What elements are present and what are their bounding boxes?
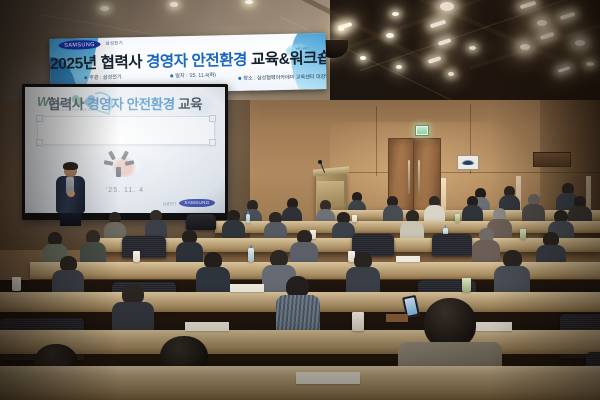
banner-title-part2: 교육&워크숍 xyxy=(247,50,327,69)
banner-meta-date: 일자 : '25. 11.4(화) xyxy=(170,71,216,79)
lectern-microphone xyxy=(318,160,328,172)
banner-meta-date-label: 일자 xyxy=(175,73,185,79)
door-handle-left[interactable] xyxy=(408,160,410,194)
banner-meta-organizer-value: 삼성전기 xyxy=(103,74,122,80)
projection-screen-frame: W in win SAMSUNG PARTNERS 협력사 경영자 안전환경 교… xyxy=(22,84,228,220)
handout-paper xyxy=(296,372,360,384)
paper-cup xyxy=(520,229,526,239)
banner-brand-sub: 삼성전기 xyxy=(105,40,123,46)
door-handle-right[interactable] xyxy=(418,160,420,194)
banner-meta-date-value: '25. 11.4(화) xyxy=(189,72,216,79)
banner-title-highlight: 경영자 안전환경 xyxy=(146,52,247,71)
wall-vent-grille xyxy=(533,152,571,167)
presenter-hand xyxy=(67,190,75,197)
paper-cup xyxy=(462,278,471,292)
samsung-logo-text: SAMSUNG xyxy=(61,40,97,49)
microphone-head xyxy=(318,160,322,164)
paper-cup xyxy=(133,251,140,262)
banner-title-part1: 2025년 협력사 xyxy=(50,54,146,73)
paper-cup xyxy=(12,277,21,291)
banner-title: 2025년 협력사 경영자 안전환경 교육&워크숍 xyxy=(50,46,326,74)
lecture-hall-photo: SAMSUNG 삼성전기 win win 2025년 협력사 경영자 안전환경 … xyxy=(0,0,600,400)
wall-notice-glyph xyxy=(460,159,476,165)
banner-meta-organizer: 주관 : 삼성전기 xyxy=(84,73,122,81)
handout-paper xyxy=(185,322,229,331)
handout-paper xyxy=(396,256,420,262)
water-bottle xyxy=(248,248,254,262)
bullet-dot-icon xyxy=(238,77,241,80)
auditorium-seat xyxy=(432,234,472,256)
banner-meta-venue-label: 장소 xyxy=(243,76,253,82)
presenter xyxy=(54,163,88,225)
audience-member xyxy=(276,276,320,338)
bullet-dot-icon xyxy=(170,74,173,77)
exit-sign-face xyxy=(417,127,427,134)
wall-notice-sign xyxy=(457,155,479,170)
audience-member xyxy=(424,196,445,224)
presenter-legs xyxy=(60,212,81,226)
audience-member xyxy=(462,196,483,224)
auditorium-seat xyxy=(122,236,166,258)
handout-paper xyxy=(230,284,264,292)
water-bottle xyxy=(246,214,250,223)
paper-cup xyxy=(352,312,364,331)
auditorium-seat xyxy=(186,214,216,230)
paper-cup xyxy=(455,214,460,222)
exit-sign xyxy=(415,125,429,136)
audience-member xyxy=(522,194,545,224)
presenter-hair xyxy=(63,162,78,170)
banner-meta-organizer-label: 주관 xyxy=(89,75,99,81)
bullet-dot-icon xyxy=(84,76,87,79)
audience-head xyxy=(424,298,476,348)
wall-panel-seam xyxy=(376,106,377,176)
